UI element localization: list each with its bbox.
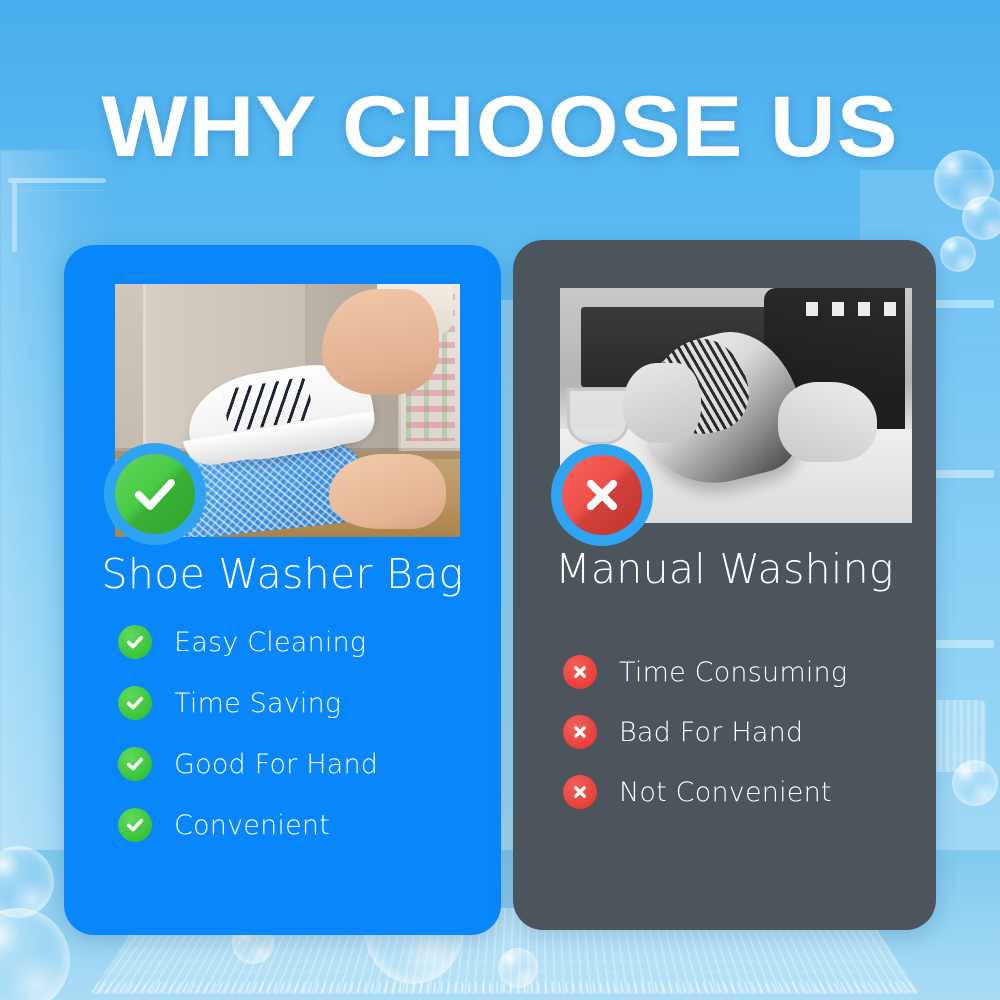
manual-feature-list: Time Consuming Bad For Hand Not Convenie… bbox=[513, 655, 986, 835]
check-icon bbox=[118, 808, 152, 842]
list-item-label: Good For Hand bbox=[174, 749, 378, 780]
check-circle-icon bbox=[104, 443, 206, 545]
list-item-label: Not Convenient bbox=[619, 777, 832, 808]
list-item-label: Time Consuming bbox=[619, 657, 847, 688]
list-item-label: Convenient bbox=[174, 810, 330, 841]
background-curtain-rod bbox=[8, 178, 106, 183]
check-icon bbox=[118, 747, 152, 781]
cross-icon bbox=[563, 715, 597, 749]
infographic-canvas: WHY CHOOSE US Shoe Washer Bag Easy bbox=[0, 0, 1000, 1000]
list-item-label: Time Saving bbox=[174, 688, 341, 719]
background-curtain-hook bbox=[12, 182, 17, 252]
check-icon bbox=[118, 686, 152, 720]
background-rug-fringe bbox=[91, 983, 919, 993]
list-item: Not Convenient bbox=[563, 775, 986, 809]
comparison-card-product: Shoe Washer Bag Easy Cleaning Time Savin… bbox=[64, 245, 501, 935]
list-item-label: Easy Cleaning bbox=[174, 627, 366, 658]
manual-card-title: Manual Washing bbox=[513, 545, 936, 593]
comparison-card-manual: Manual Washing Time Consuming Bad For Ha… bbox=[513, 240, 936, 930]
check-icon bbox=[118, 625, 152, 659]
product-feature-list: Easy Cleaning Time Saving Good For Hand … bbox=[64, 625, 555, 869]
cross-icon bbox=[563, 655, 597, 689]
cross-circle-icon bbox=[551, 444, 653, 546]
cross-icon bbox=[563, 775, 597, 809]
list-item: Bad For Hand bbox=[563, 715, 986, 749]
page-title: WHY CHOOSE US bbox=[0, 78, 1000, 177]
list-item: Convenient bbox=[118, 808, 555, 842]
list-item: Good For Hand bbox=[118, 747, 555, 781]
list-item: Time Saving bbox=[118, 686, 555, 720]
list-item: Time Consuming bbox=[563, 655, 986, 689]
list-item-label: Bad For Hand bbox=[619, 717, 803, 748]
product-card-title: Shoe Washer Bag bbox=[64, 550, 501, 598]
list-item: Easy Cleaning bbox=[118, 625, 555, 659]
